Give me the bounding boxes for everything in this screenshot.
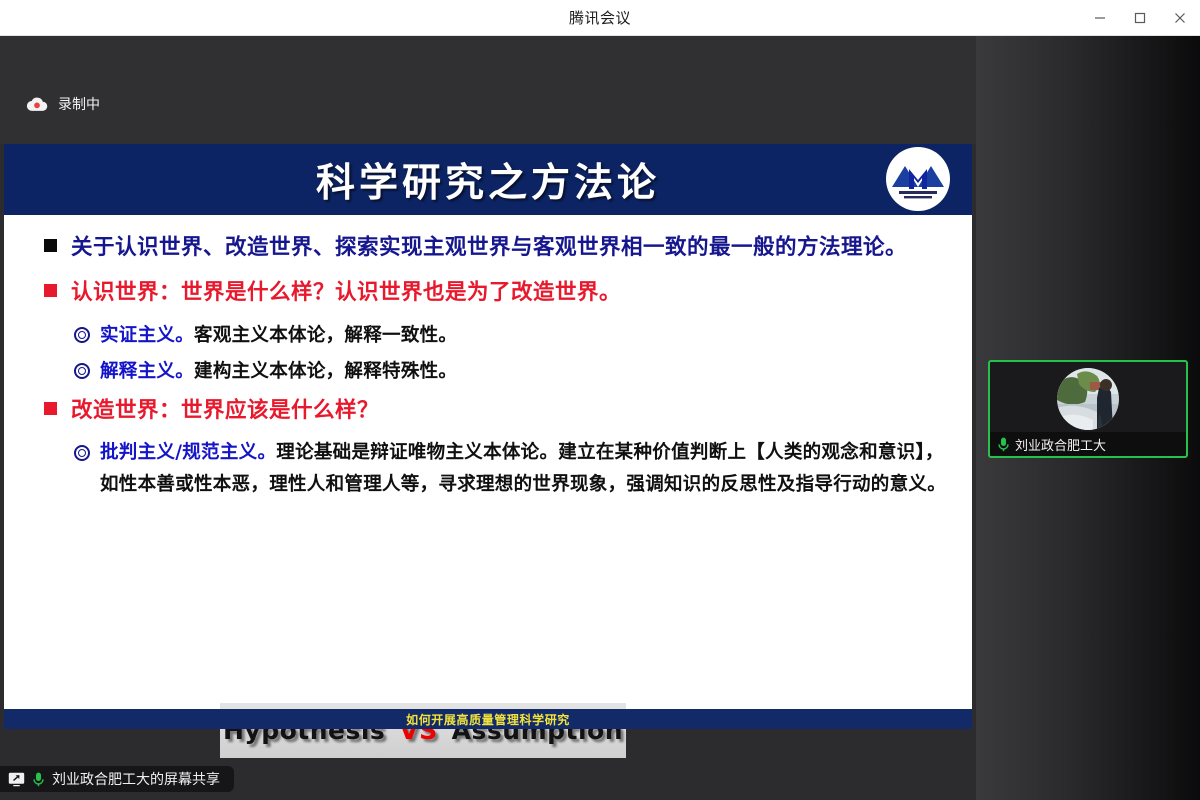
recording-indicator: 录制中 (26, 94, 100, 114)
bullet-text: 关于认识世界、改造世界、探索实现主观世界与客观世界相一致的最一般的方法理论。 (71, 229, 907, 266)
close-icon (1174, 12, 1186, 24)
university-logo-icon (888, 149, 948, 209)
university-logo (886, 147, 950, 211)
avatar-photo (1057, 368, 1119, 430)
avatar (1057, 368, 1119, 430)
slide-header: 科学研究之方法论 (4, 144, 972, 215)
bullet-body: 建构主义本体论，解释特殊性。 (194, 361, 457, 382)
bullet-lead: 解释主义。 (100, 361, 194, 382)
microphone-icon[interactable] (998, 437, 1009, 452)
bullet-text: 认识世界：世界是什么样？认识世界也是为了改造世界。 (71, 274, 621, 311)
bullet-body: 客观主义本体论，解释一致性。 (194, 325, 457, 346)
bullet-level1: 认识世界：世界是什么样？认识世界也是为了改造世界。 (26, 274, 950, 311)
screen-share-label: 刘业政合肥工大的屏幕共享 (52, 769, 220, 789)
close-button[interactable] (1160, 0, 1200, 36)
bullet-level1: 关于认识世界、改造世界、探索实现主观世界与客观世界相一致的最一般的方法理论。 (26, 229, 950, 266)
bullet-level2: 批判主义/规范主义。理论基础是辩证唯物主义本体论。建立在某种价值判断上【人类的观… (26, 437, 950, 501)
bullet-level1: 改造世界：世界应该是什么样？ (26, 392, 950, 429)
bullet-lead: 实证主义。 (100, 325, 194, 346)
recording-cloud-icon (26, 96, 48, 112)
recording-label: 录制中 (58, 94, 100, 114)
square-bullet-icon (44, 402, 57, 415)
bullet-text: 实证主义。客观主义本体论，解释一致性。 (100, 319, 457, 352)
slide-footer: 如何开展高质量管理科学研究 (4, 709, 972, 729)
bullet-text: 改造世界：世界应该是什么样？ (71, 392, 379, 429)
shared-screen-stage: 录制中 科学研究之方法论 关于认识世界、改造世界、探索实现主观世界与客观世界相 (0, 36, 976, 800)
slide-footer-text: 如何开展高质量管理科学研究 (406, 711, 570, 728)
ring-bullet-icon (74, 445, 90, 461)
app-title: 腾讯会议 (569, 7, 631, 28)
slide-title: 科学研究之方法论 (316, 152, 660, 208)
bullet-level2: 解释主义。建构主义本体论，解释特殊性。 (26, 355, 950, 388)
participant-rail: 刘业政合肥工大 (976, 36, 1200, 800)
square-bullet-icon (44, 239, 57, 252)
bullet-text: 批判主义/规范主义。理论基础是辩证唯物主义本体论。建立在某种价值判断上【人类的观… (100, 437, 950, 501)
window-title-bar: 腾讯会议 (0, 0, 1200, 36)
participant-name: 刘业政合肥工大 (1015, 435, 1106, 454)
maximize-button[interactable] (1120, 0, 1160, 36)
bullet-text: 解释主义。建构主义本体论，解释特殊性。 (100, 355, 457, 388)
microphone-icon (33, 772, 44, 787)
window-controls (1080, 0, 1200, 36)
bullet-lead: 批判主义/规范主义。 (100, 442, 276, 463)
screen-share-status-bar: 刘业政合肥工大的屏幕共享 (0, 766, 234, 792)
minimize-icon (1094, 12, 1106, 24)
recording-strip: 录制中 (0, 36, 976, 144)
ring-bullet-icon (74, 327, 90, 343)
ring-bullet-icon (74, 363, 90, 379)
bullet-level2: 实证主义。客观主义本体论，解释一致性。 (26, 319, 950, 352)
screen-share-icon (8, 772, 25, 787)
slide-body: 关于认识世界、改造世界、探索实现主观世界与客观世界相一致的最一般的方法理论。 认… (4, 215, 972, 729)
maximize-icon (1134, 12, 1146, 24)
participant-tile[interactable]: 刘业政合肥工大 (988, 360, 1188, 458)
square-bullet-icon (44, 284, 57, 297)
participant-name-bar: 刘业政合肥工大 (990, 432, 1186, 456)
presentation-slide: 科学研究之方法论 关于认识世界、改造世界、探索实现主观世界与客观世界相一致的最一… (4, 144, 972, 729)
minimize-button[interactable] (1080, 0, 1120, 36)
